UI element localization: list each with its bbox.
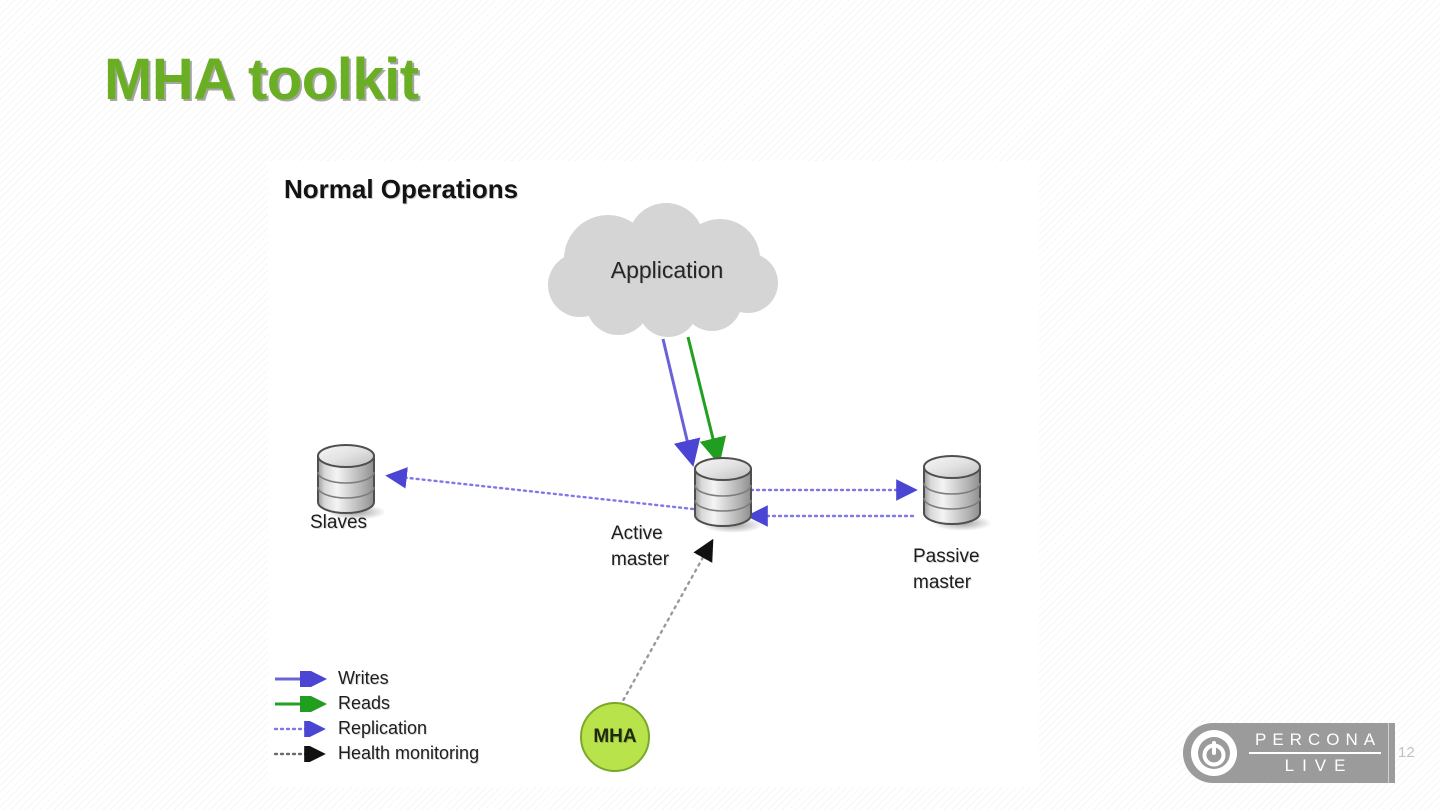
power-button-icon (1191, 730, 1237, 776)
diagram-legend: Writes Reads Replication (273, 666, 533, 766)
legend-swatch-writes (273, 671, 333, 687)
legend-item-replication: Replication (273, 716, 533, 741)
legend-swatch-replication (273, 721, 333, 737)
brand-name-bottom: LIVE (1277, 754, 1354, 776)
legend-item-writes: Writes (273, 666, 533, 691)
edge-writes (663, 339, 692, 461)
percona-wordmark: PERCONA LIVE (1249, 730, 1381, 775)
page-number: 12 (1398, 744, 1415, 761)
edge-replication-slaves (390, 476, 693, 509)
legend-label-writes: Writes (338, 668, 389, 689)
legend-item-reads: Reads (273, 691, 533, 716)
legend-item-health-monitoring: Health monitoring (273, 741, 533, 766)
node-label-active-master: Active master (611, 521, 669, 572)
application-cloud (540, 203, 794, 337)
legend-swatch-reads (273, 696, 333, 712)
legend-label-health-monitoring: Health monitoring (338, 743, 479, 764)
legend-swatch-health-monitoring (273, 746, 333, 762)
percona-live-logo: PERCONA LIVE (1183, 723, 1395, 783)
node-label-passive-master: Passive master (913, 544, 980, 595)
brand-name-top: PERCONA (1249, 730, 1381, 754)
edge-reads (688, 337, 718, 459)
db-icon-active-master (687, 451, 767, 539)
legend-label-replication: Replication (338, 718, 427, 739)
brand-divider (1388, 723, 1389, 783)
legend-label-reads: Reads (338, 693, 390, 714)
mha-label: MHA (593, 726, 636, 748)
node-label-slaves: Slaves (310, 510, 367, 536)
page-title: MHA toolkit (104, 46, 419, 113)
db-icon-passive-master (916, 449, 996, 537)
diagram-panel: Normal Operations (268, 161, 1039, 787)
mha-node: MHA (580, 702, 650, 772)
